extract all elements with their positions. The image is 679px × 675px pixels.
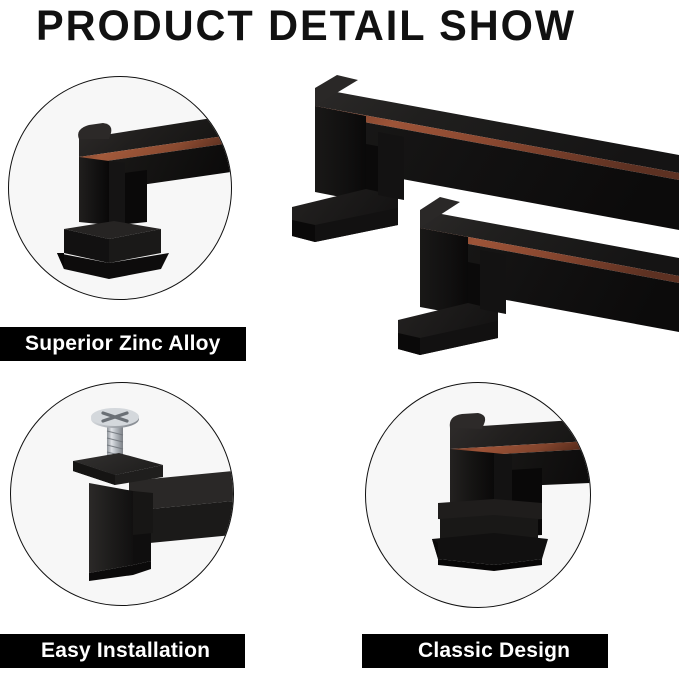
zinc-alloy-detail-illustration [9, 77, 231, 299]
pull-handle-upper [292, 75, 679, 242]
page-title: PRODUCT DETAIL SHOW [36, 0, 576, 56]
feature-label-classic-design: Classic Design [362, 634, 608, 668]
feature-circle-classic-design [365, 382, 591, 608]
easy-installation-detail-illustration [11, 383, 233, 605]
feature-label-superior-zinc-alloy: Superior Zinc Alloy [0, 327, 246, 361]
feature-circle-superior-zinc-alloy [8, 76, 232, 300]
product-detail-image: PRODUCT DETAIL SHOW [0, 0, 679, 675]
feature-label-easy-installation: Easy Installation [0, 634, 245, 668]
classic-design-detail-illustration [366, 383, 590, 607]
feature-circle-easy-installation [10, 382, 234, 606]
hero-product-photo [270, 70, 679, 370]
hero-pulls-illustration [270, 70, 679, 370]
